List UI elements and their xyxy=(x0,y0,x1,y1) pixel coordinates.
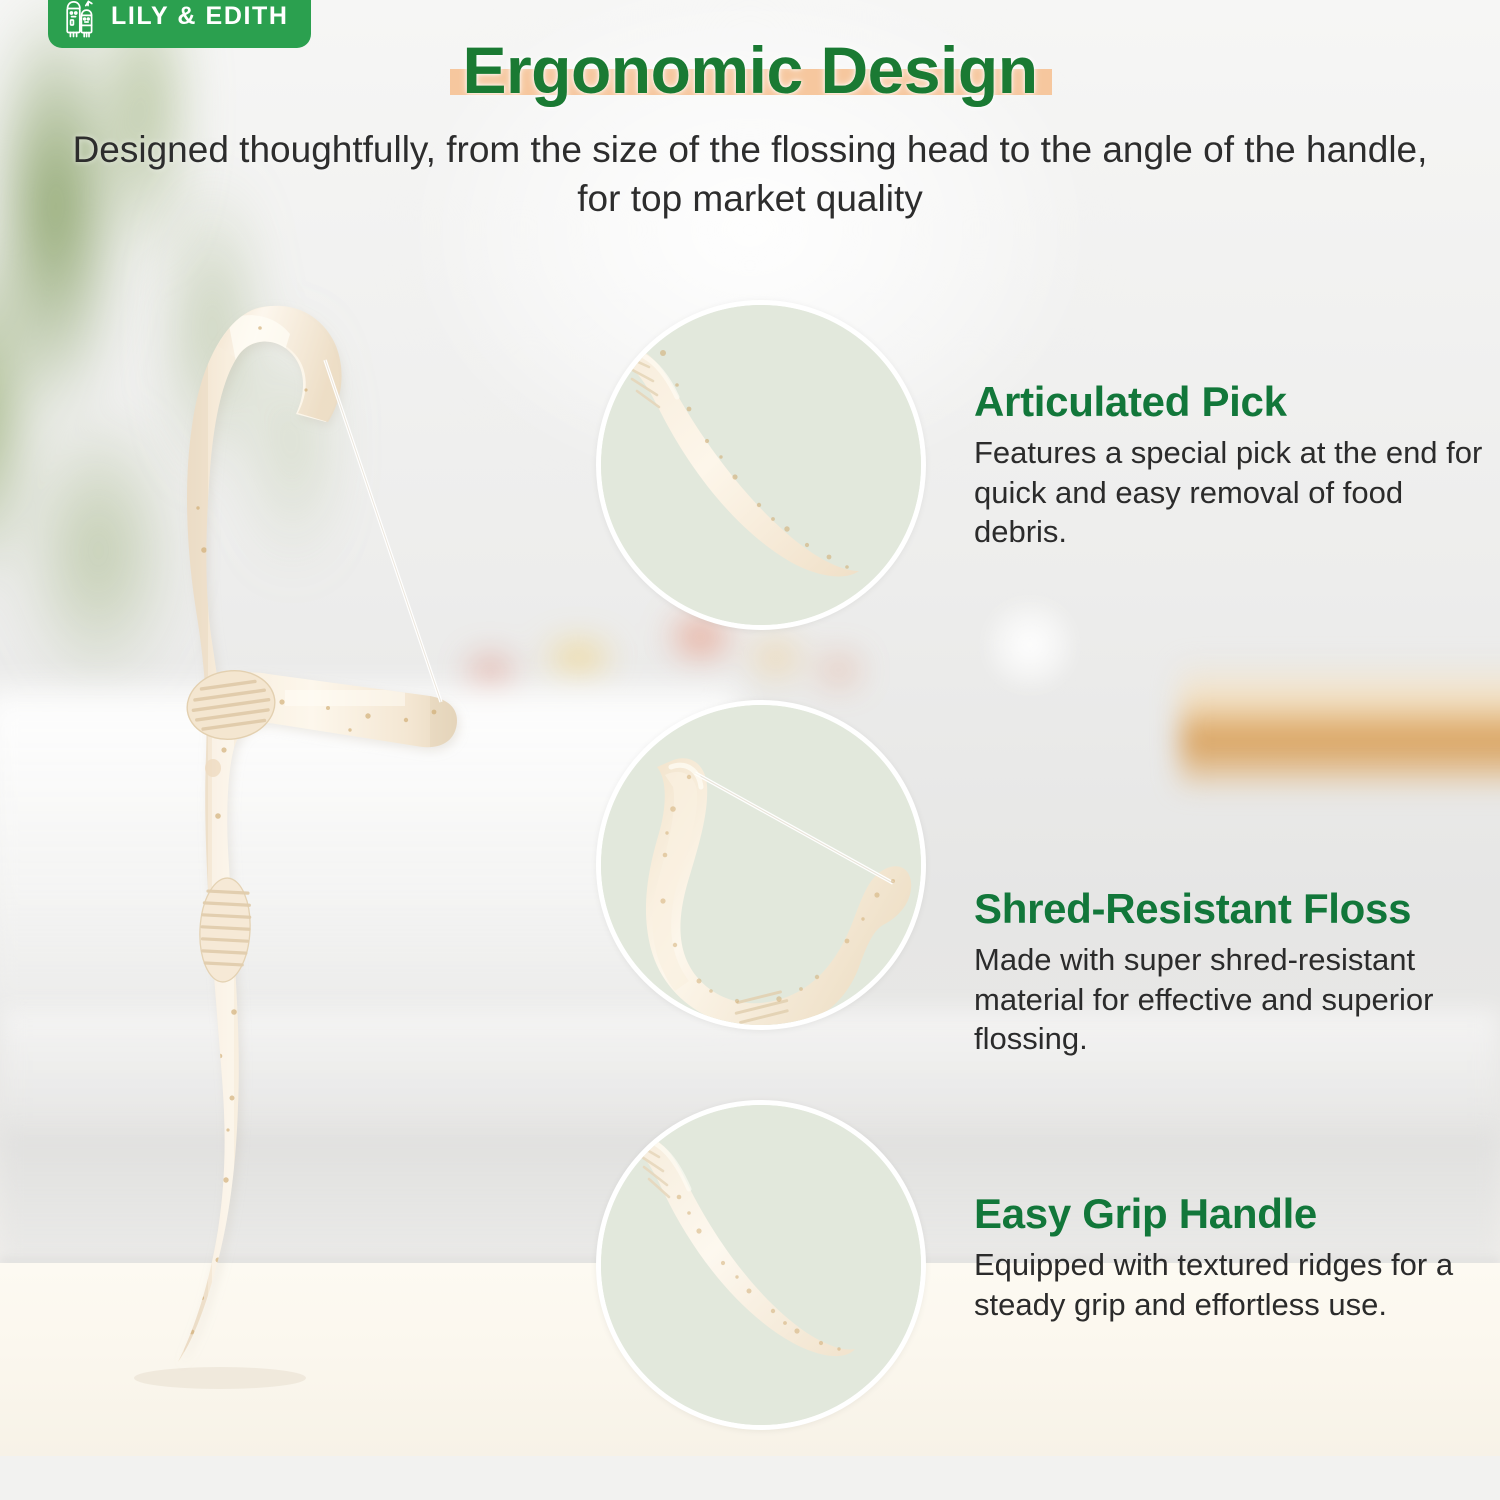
feature-list: Articulated Pick Features a special pick… xyxy=(596,300,1486,1500)
brand-name: LILY & EDITH xyxy=(111,4,289,31)
feature-3-title: Easy Grip Handle xyxy=(974,1190,1486,1237)
page-title: Ergonomic Design xyxy=(462,34,1037,107)
feature-2-title: Shred-Resistant Floss xyxy=(974,885,1486,932)
feature-1-circle-image xyxy=(596,300,926,630)
feature-articulated-pick: Articulated Pick Features a special pick… xyxy=(596,300,1486,700)
two-figures-icon xyxy=(62,0,100,38)
feature-shred-resistant-floss: Shred-Resistant Floss Made with super sh… xyxy=(596,700,1486,1100)
feature-1-body: Features a special pick at the end for q… xyxy=(974,433,1486,552)
feature-1-text: Articulated Pick Features a special pick… xyxy=(974,378,1486,552)
page-title-wrap: Ergonomic Design xyxy=(462,34,1037,107)
brand-badge: LILY & EDITH xyxy=(48,0,311,48)
product-image-floss-pick xyxy=(100,250,560,1430)
feature-2-body: Made with super shred-resistant material… xyxy=(974,940,1486,1059)
feature-3-text: Easy Grip Handle Equipped with textured … xyxy=(974,1190,1486,1324)
feature-easy-grip-handle: Easy Grip Handle Equipped with textured … xyxy=(596,1100,1486,1500)
feature-2-text: Shred-Resistant Floss Made with super sh… xyxy=(974,885,1486,1059)
feature-2-circle-image xyxy=(596,700,926,1030)
feature-1-title: Articulated Pick xyxy=(974,378,1486,425)
header: Ergonomic Design Designed thoughtfully, … xyxy=(0,34,1500,223)
page-subtitle: Designed thoughtfully, from the size of … xyxy=(55,125,1445,223)
feature-3-circle-image xyxy=(596,1100,926,1430)
feature-3-body: Equipped with textured ridges for a stea… xyxy=(974,1245,1486,1324)
